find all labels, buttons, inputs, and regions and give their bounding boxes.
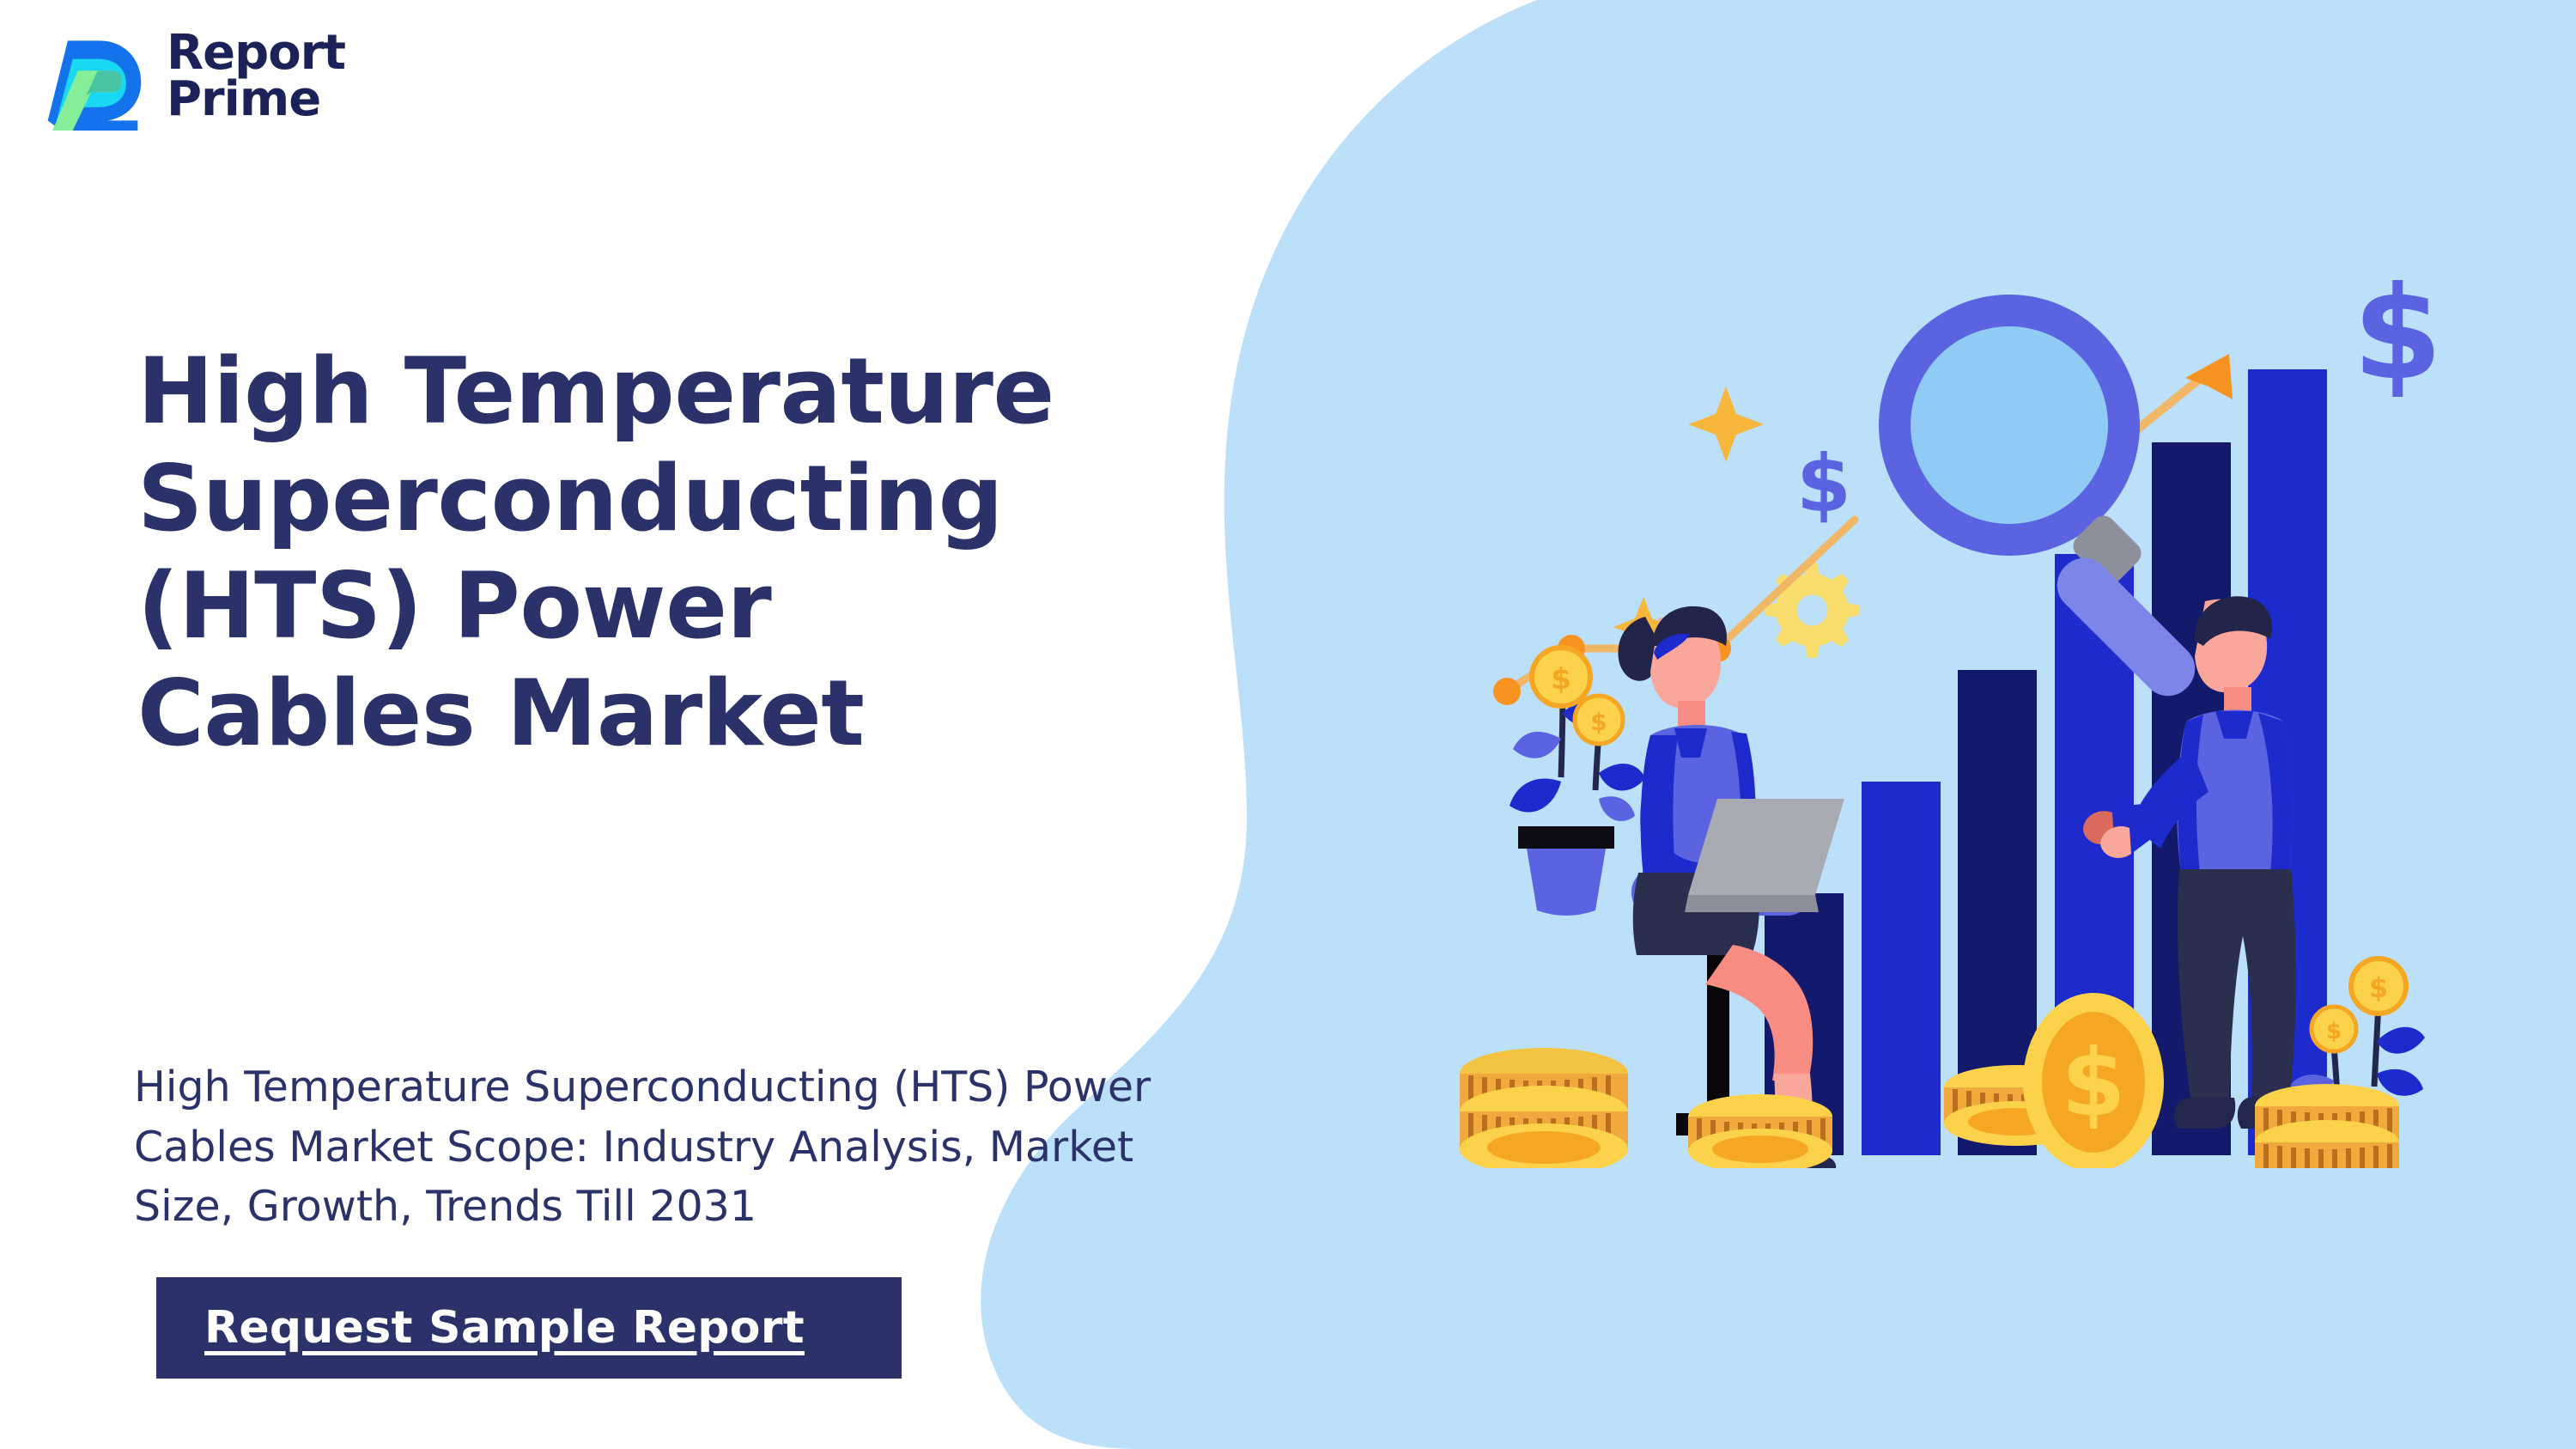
svg-text:$: $ <box>1796 438 1851 530</box>
brand-name-line2: Prime <box>167 76 345 123</box>
brand-wordmark: Report Prime <box>167 30 345 123</box>
money-plant-icon: $ $ <box>1510 648 1645 916</box>
large-coin-icon: $ <box>2023 993 2164 1168</box>
svg-text:$: $ <box>1551 662 1571 697</box>
report-prime-r-logo-icon <box>39 22 148 131</box>
poster-canvas: Report Prime High Temperature Supercondu… <box>0 0 2576 1449</box>
dollar-sign-icon: $ <box>2353 259 2442 409</box>
gear-icon <box>1765 563 1860 658</box>
coin-stack-icon <box>2255 1084 2399 1168</box>
market-research-illustration: $ $ <box>1460 258 2524 1168</box>
page-subtitle: High Temperature Superconducting (HTS) P… <box>134 1057 1542 1237</box>
coin-stack-icon <box>1460 1048 1628 1168</box>
request-sample-report-button[interactable]: Request Sample Report <box>156 1277 902 1379</box>
svg-text:$: $ <box>2369 971 2388 1004</box>
page-title: High Temperature Superconducting (HTS) P… <box>137 338 1674 767</box>
svg-text:$: $ <box>1590 708 1607 736</box>
seated-woman-with-laptop-icon <box>1618 606 1844 1168</box>
svg-text:$: $ <box>2326 1019 2342 1044</box>
dollar-sign-icon: $ <box>1796 438 1851 530</box>
brand-name-line1: Report <box>167 30 345 76</box>
coin-stack-icon <box>1688 1094 1832 1168</box>
sparkle-icon <box>1688 387 1764 462</box>
svg-text:$: $ <box>2061 1030 2125 1137</box>
svg-text:$: $ <box>2353 259 2442 409</box>
request-sample-report-label: Request Sample Report <box>204 1302 805 1354</box>
brand-logo[interactable]: Report Prime <box>39 22 345 131</box>
